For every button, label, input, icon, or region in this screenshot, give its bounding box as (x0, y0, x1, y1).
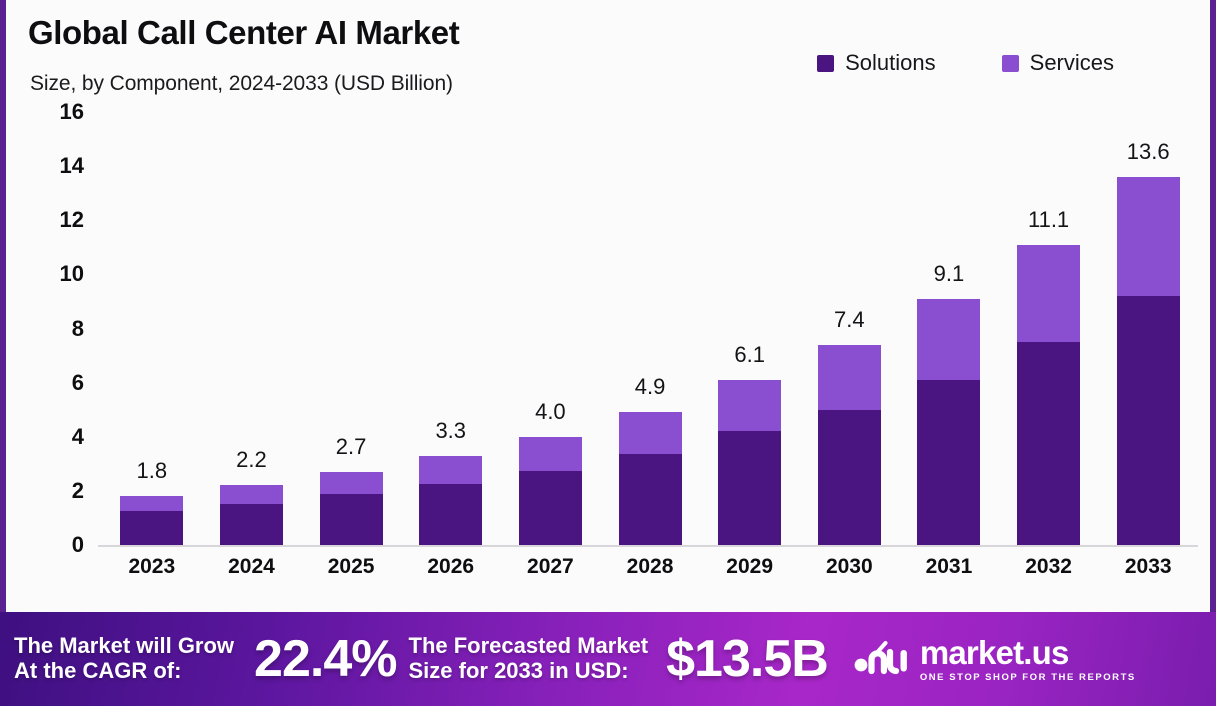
bar-segment-solutions[interactable] (120, 511, 183, 545)
bar-segment-solutions[interactable] (519, 471, 582, 545)
chart-plot-area: 0246810121416 1.82.22.73.34.04.96.17.49.… (6, 112, 1210, 610)
chart-subtitle: Size, by Component, 2024-2033 (USD Billi… (30, 72, 453, 96)
bar-segment-solutions[interactable] (818, 410, 881, 545)
stacked-bar[interactable] (220, 485, 283, 545)
bar-column[interactable]: 3.3 (401, 112, 501, 545)
bar-column[interactable]: 4.9 (600, 112, 700, 545)
bar-segment-solutions[interactable] (718, 431, 781, 545)
cagr-label: The Market will Grow At the CAGR of: (14, 634, 234, 683)
bar-value-label: 9.1 (934, 261, 965, 287)
x-axis-tick-label: 2030 (799, 555, 899, 595)
bar-value-label: 4.9 (635, 374, 666, 400)
logo-tagline: ONE STOP SHOP FOR THE REPORTS (920, 672, 1136, 683)
bar-segment-solutions[interactable] (320, 494, 383, 545)
forecast-size-value: $13.5B (666, 629, 828, 689)
x-axis-tick-label: 2028 (600, 555, 700, 595)
footer-banner: The Market will Grow At the CAGR of: 22.… (0, 612, 1216, 706)
y-axis-tick-label: 4 (72, 424, 84, 450)
bar-column[interactable]: 13.6 (1098, 112, 1198, 545)
bar-group: 1.82.22.73.34.04.96.17.49.111.113.6 (102, 112, 1198, 545)
bar-column[interactable]: 7.4 (799, 112, 899, 545)
bar-segment-services[interactable] (120, 496, 183, 511)
bar-value-label: 4.0 (535, 399, 566, 425)
stacked-bar[interactable] (1117, 177, 1180, 545)
bar-value-label: 13.6 (1127, 139, 1170, 165)
bar-segment-solutions[interactable] (619, 454, 682, 545)
market-us-logo[interactable]: market.us ONE STOP SHOP FOR THE REPORTS (854, 636, 1136, 683)
chart-legend: SolutionsServices (817, 50, 1114, 76)
x-axis-baseline (98, 545, 1198, 547)
stacked-bar[interactable] (619, 412, 682, 545)
bar-column[interactable]: 11.1 (999, 112, 1099, 545)
x-axis-tick-label: 2025 (301, 555, 401, 595)
bar-value-label: 6.1 (734, 342, 765, 368)
bar-value-label: 2.2 (236, 447, 267, 473)
bar-column[interactable]: 2.2 (202, 112, 302, 545)
bar-column[interactable]: 9.1 (899, 112, 999, 545)
bar-segment-services[interactable] (419, 456, 482, 484)
legend-item-solutions[interactable]: Solutions (817, 50, 936, 76)
y-axis-tick-label: 8 (72, 316, 84, 342)
bar-column[interactable]: 2.7 (301, 112, 401, 545)
bar-segment-services[interactable] (220, 485, 283, 503)
bar-segment-solutions[interactable] (1117, 296, 1180, 545)
bar-value-label: 1.8 (137, 458, 168, 484)
bar-value-label: 2.7 (336, 434, 367, 460)
bar-column[interactable]: 6.1 (700, 112, 800, 545)
bar-value-label: 11.1 (1028, 207, 1069, 233)
square-swatch-icon (1002, 55, 1019, 72)
bar-column[interactable]: 4.0 (501, 112, 601, 545)
y-axis-tick-label: 14 (60, 153, 84, 179)
bar-segment-services[interactable] (917, 299, 980, 380)
x-axis: 2023202420252026202720282029203020312032… (102, 555, 1198, 595)
x-axis-tick-label: 2026 (401, 555, 501, 595)
bar-segment-services[interactable] (818, 345, 881, 410)
y-axis-tick-label: 10 (60, 261, 84, 287)
chart-header: Global Call Center AI Market Size, by Co… (6, 0, 1210, 112)
y-axis-tick-label: 2 (72, 478, 84, 504)
bar-segment-solutions[interactable] (220, 504, 283, 545)
stacked-bar[interactable] (519, 437, 582, 545)
legend-item-label: Solutions (845, 50, 936, 76)
stacked-bar[interactable] (818, 345, 881, 545)
cagr-value: 22.4% (254, 629, 396, 689)
market-us-logo-text: market.us ONE STOP SHOP FOR THE REPORTS (920, 636, 1136, 683)
bar-segment-solutions[interactable] (1017, 342, 1080, 545)
x-axis-tick-label: 2024 (202, 555, 302, 595)
logo-wordmark: market.us (920, 636, 1136, 669)
x-axis-tick-label: 2023 (102, 555, 202, 595)
stacked-bar[interactable] (1017, 245, 1080, 545)
y-axis-tick-label: 0 (72, 532, 84, 558)
y-axis: 0246810121416 (6, 112, 98, 610)
bar-segment-services[interactable] (1117, 177, 1180, 296)
bar-segment-services[interactable] (619, 412, 682, 453)
x-axis-tick-label: 2027 (501, 555, 601, 595)
bar-column[interactable]: 1.8 (102, 112, 202, 545)
bar-segment-services[interactable] (519, 437, 582, 471)
y-axis-tick-label: 12 (60, 207, 84, 233)
stacked-bar[interactable] (419, 456, 482, 545)
stacked-bar[interactable] (917, 299, 980, 545)
bar-segment-services[interactable] (718, 380, 781, 431)
bar-segment-services[interactable] (1017, 245, 1080, 342)
bar-segment-solutions[interactable] (419, 484, 482, 545)
y-axis-tick-label: 16 (60, 99, 84, 125)
stacked-bar[interactable] (120, 496, 183, 545)
square-swatch-icon (817, 55, 834, 72)
bar-value-label: 7.4 (834, 307, 865, 333)
bar-segment-solutions[interactable] (917, 380, 980, 545)
stacked-bar[interactable] (718, 380, 781, 545)
chart-infographic: Global Call Center AI Market Size, by Co… (0, 0, 1216, 706)
legend-item-services[interactable]: Services (1002, 50, 1114, 76)
x-axis-tick-label: 2032 (999, 555, 1099, 595)
x-axis-tick-label: 2033 (1098, 555, 1198, 595)
stacked-bar[interactable] (320, 472, 383, 545)
bar-value-label: 3.3 (435, 418, 466, 444)
legend-item-label: Services (1030, 50, 1114, 76)
y-axis-tick-label: 6 (72, 370, 84, 396)
market-us-logo-icon (854, 638, 908, 680)
x-axis-tick-label: 2031 (899, 555, 999, 595)
bar-segment-services[interactable] (320, 472, 383, 494)
page-title: Global Call Center AI Market (28, 14, 459, 52)
forecast-size-label: The Forecasted Market Size for 2033 in U… (409, 634, 649, 683)
x-axis-tick-label: 2029 (700, 555, 800, 595)
